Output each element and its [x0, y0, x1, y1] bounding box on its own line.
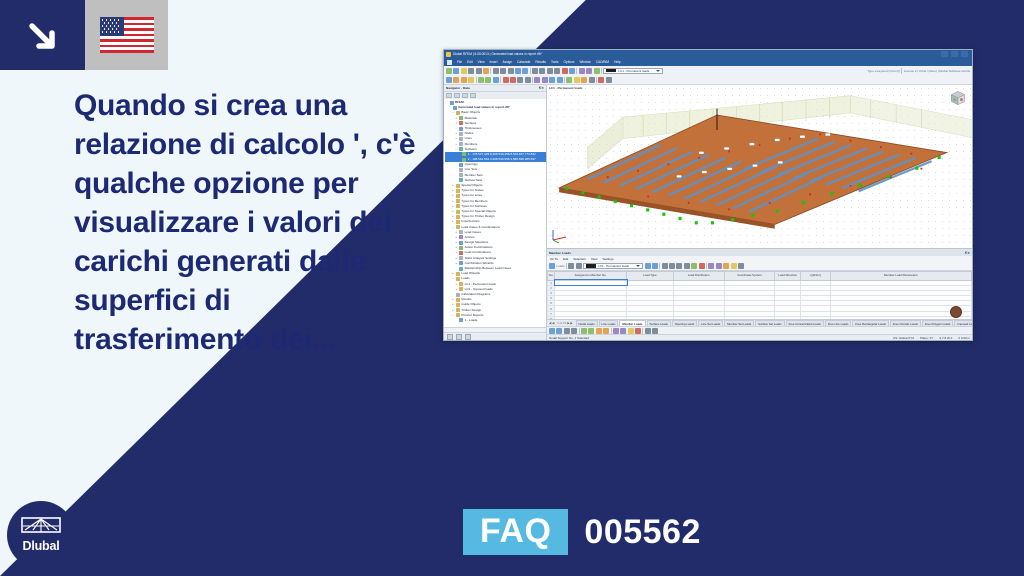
column-header-load-distribution: Load Distribution — [673, 271, 724, 280]
bottom-toolbar[interactable] — [547, 326, 972, 334]
tree-item-icon — [456, 189, 460, 193]
text-icon[interactable] — [542, 77, 548, 83]
table-print-icon[interactable] — [731, 263, 737, 269]
tree-item-icon — [456, 220, 460, 224]
mesh-icon[interactable] — [566, 77, 572, 83]
bt-rotate-icon[interactable] — [571, 328, 577, 334]
tree-expander-icon[interactable]: + — [455, 287, 458, 292]
render-icon[interactable] — [562, 68, 568, 74]
table-merge-icon[interactable] — [676, 263, 682, 269]
navigator-tabs[interactable] — [444, 92, 546, 99]
tree-item-icon — [450, 101, 454, 105]
panel-icon[interactable] — [539, 68, 545, 74]
bt-grid-icon[interactable] — [628, 328, 634, 334]
tree-item-icon — [459, 173, 463, 177]
tree-expander-icon[interactable]: + — [455, 261, 458, 266]
calculate-icon[interactable] — [579, 68, 585, 74]
faq-badge: FAQ — [463, 509, 568, 555]
cut-icon[interactable] — [493, 68, 499, 74]
menu-bar[interactable]: File Edit View Insert Assign Calculate R… — [444, 58, 972, 66]
tree-item-icon — [456, 184, 460, 188]
tree-item-icon — [459, 116, 463, 120]
solid-icon[interactable] — [485, 77, 491, 83]
table-icon[interactable] — [532, 68, 538, 74]
print-icon[interactable] — [468, 68, 474, 74]
column-header-load-type: Load Type — [627, 271, 674, 280]
loads-label: Loads — [556, 264, 564, 268]
tab-pager-label: 1 of 15 — [557, 321, 566, 325]
copy-icon[interactable] — [500, 68, 506, 74]
table-first-icon[interactable] — [568, 263, 574, 269]
column-header-assigned-members: Assigned to Member No. — [555, 271, 627, 280]
open-icon[interactable] — [453, 68, 459, 74]
navigator-header: Navigator - Data ⇱ ✕ — [444, 85, 546, 92]
tree-item-icon — [459, 178, 463, 182]
tree-item-icon — [456, 210, 460, 214]
paste-icon[interactable] — [508, 68, 514, 74]
model-viewport[interactable]: LC1 - Permanent loads — [547, 85, 972, 248]
tree-item-icon — [459, 163, 463, 167]
tree-item-icon — [456, 111, 460, 115]
navigator-tab-views[interactable] — [462, 93, 468, 98]
table-filter-icon[interactable] — [652, 263, 658, 269]
tree-item-icon — [456, 313, 460, 317]
tree-item-icon — [459, 132, 463, 136]
column-header-coordinate-system: Coordinate System — [724, 271, 775, 280]
navigator-collapse-icon[interactable] — [456, 334, 462, 340]
table-find-icon[interactable] — [716, 263, 722, 269]
loads-group-icon — [549, 263, 555, 269]
tree-item-icon — [459, 121, 463, 125]
opening-icon[interactable] — [493, 77, 499, 83]
tree-item-icon — [456, 293, 460, 297]
tree-expander-icon[interactable]: + — [455, 121, 458, 126]
chevron-down-icon[interactable] — [636, 265, 640, 267]
table-panel: Member Loads ⇱ ✕ On To Edit Selection Vi… — [547, 248, 972, 340]
table-insert-icon[interactable] — [691, 263, 697, 269]
status-left: Nodal Support No. 1 Standard — [549, 336, 589, 340]
navigator-expand-icon[interactable] — [447, 334, 453, 340]
tree-item-icon — [459, 261, 463, 265]
stress-icon[interactable] — [581, 77, 587, 83]
tab-nav-arrows-right[interactable]: ▶ ▶ — [567, 321, 572, 325]
table-delete-icon[interactable] — [699, 263, 705, 269]
tree-item-icon — [459, 127, 463, 131]
load-icon[interactable] — [517, 77, 523, 83]
menu-item-edit[interactable]: Edit — [467, 60, 473, 64]
table-column-icon[interactable] — [662, 263, 668, 269]
navigator-tab-display[interactable] — [454, 93, 460, 98]
table-menu-edit[interactable]: Edit — [563, 257, 568, 261]
toolbar-row-2[interactable] — [444, 75, 972, 84]
tree-item-label: 1 - Loads — [465, 318, 478, 323]
view-cube-icon[interactable] — [948, 88, 968, 108]
avatar — [950, 306, 962, 318]
tree-item-icon — [459, 318, 463, 322]
tree-item-icon — [456, 194, 460, 198]
node-icon[interactable] — [453, 77, 459, 83]
table-load-case-selector[interactable]: LC1 - Permanent loads — [583, 263, 643, 269]
table-panel-titlebar: Member Loads ⇱ ✕ — [547, 249, 972, 256]
layer-icon[interactable] — [549, 77, 555, 83]
tree-item-icon — [459, 287, 463, 291]
grid-icon[interactable] — [547, 68, 553, 74]
table-export-icon[interactable] — [723, 263, 729, 269]
member-icon[interactable] — [468, 77, 474, 83]
table-body: 123456789 — [548, 280, 972, 319]
menu-item-file[interactable]: File — [457, 60, 462, 64]
bt-display-icon[interactable] — [652, 328, 658, 334]
tree-item[interactable]: 1 - Loads — [445, 318, 546, 323]
tree-item-icon — [459, 168, 463, 172]
license-label: Licence 2 | Other (share) | Dlubal Softw… — [904, 69, 970, 73]
column-header-no: No. — [548, 271, 555, 280]
tree-item-icon — [456, 204, 460, 208]
menu-item-window[interactable]: Window — [579, 60, 590, 64]
table-close-icon[interactable]: ✕ — [967, 251, 970, 255]
dimension-icon[interactable] — [534, 77, 540, 83]
tree-item-icon — [459, 256, 463, 260]
headline-text: Quando si crea una relazione di calcolo … — [74, 86, 419, 359]
navigator-filter-icon[interactable] — [465, 334, 471, 340]
tree-item-icon — [456, 298, 460, 302]
tree-item-icon — [459, 251, 463, 255]
tree-item-icon — [453, 106, 457, 110]
faq-number: 005562 — [584, 513, 700, 552]
bt-snap-icon[interactable] — [613, 328, 619, 334]
tree-item-icon — [456, 225, 460, 229]
check-icon[interactable] — [594, 68, 600, 74]
navigator-title: Navigator - Data — [446, 86, 470, 90]
tree-item-icon — [459, 267, 463, 271]
bt-select-icon[interactable] — [549, 328, 555, 334]
menu-item-calculate[interactable]: Calculate — [517, 60, 530, 64]
status-plane: Plane: XY — [920, 336, 933, 340]
table-header-row: No. Assigned to Member No. Load Type Loa… — [548, 271, 972, 280]
minimize-button[interactable] — [941, 51, 948, 57]
bt-node-icon[interactable] — [581, 328, 587, 334]
print-preview-icon[interactable] — [476, 68, 482, 74]
tree-item-icon — [459, 147, 463, 151]
new-icon[interactable] — [446, 68, 452, 74]
load-case-selector[interactable]: LC1 - Permanent loads — [603, 68, 663, 74]
axis-gizmo-icon — [550, 228, 568, 244]
table-sort-icon[interactable] — [708, 263, 714, 269]
redo-icon[interactable] — [522, 68, 528, 74]
status-cs: CS: Global XYZ — [893, 336, 914, 340]
load-case-value: LC1 - Permanent loads — [618, 69, 654, 73]
app-icon — [446, 52, 451, 57]
navigator-panel: Navigator - Data ⇱ ✕ RFEM−Generated load… — [444, 85, 547, 340]
bt-member-icon[interactable] — [596, 328, 602, 334]
chevron-down-icon[interactable] — [656, 70, 660, 72]
loads-grid-wrapper[interactable]: No. Assigned to Member No. Load Type Loa… — [547, 271, 972, 320]
table-settings-icon[interactable] — [738, 263, 744, 269]
menu-item-tools[interactable]: Tools — [551, 60, 558, 64]
tree-item-icon — [456, 199, 460, 203]
dlubal-logo-text: Dlubal — [23, 539, 60, 553]
column-header-load-direction: Load Direction — [775, 271, 800, 280]
menu-item-insert[interactable]: Insert — [490, 60, 498, 64]
navigator-tab-data[interactable] — [446, 93, 452, 98]
truss-bridge-icon — [21, 517, 61, 537]
hinge-icon[interactable] — [510, 77, 516, 83]
dlubal-logo: Dlubal — [7, 501, 75, 569]
tree-item-icon — [456, 303, 460, 307]
maximize-button[interactable] — [951, 51, 958, 57]
nodal-load-icon[interactable] — [525, 77, 531, 83]
deformation-icon[interactable] — [574, 77, 580, 83]
results-icon[interactable] — [586, 68, 592, 74]
tree-item-icon — [459, 235, 463, 239]
snap-icon[interactable] — [554, 68, 560, 74]
flag-container — [85, 0, 168, 70]
usa-flag-icon — [100, 17, 154, 53]
faq-footer: FAQ 005562 — [463, 509, 701, 555]
select-icon[interactable] — [446, 77, 452, 83]
table-menu-view[interactable]: View — [591, 257, 598, 261]
tab-nav-arrows[interactable]: ◀ ◀ — [549, 321, 554, 325]
load-case-color-swatch — [606, 69, 616, 73]
table-split-icon[interactable] — [684, 263, 690, 269]
column-header-q: q [kN/m] — [800, 271, 830, 280]
rfem-application-window: Dlubal RFEM | 6.05.0013 | Generated load… — [443, 49, 973, 341]
table-title: Member Loads — [549, 251, 571, 255]
application-body: Navigator - Data ⇱ ✕ RFEM−Generated load… — [444, 85, 972, 340]
table-menu-onto[interactable]: On To — [550, 257, 558, 261]
status-coord: 0 0.00 m — [958, 336, 970, 340]
tree-item-icon — [459, 142, 463, 146]
table-toolbar[interactable]: Loads LC1 - Permanent loads — [547, 263, 972, 271]
navigator-tab-results[interactable] — [470, 93, 476, 98]
table-edit-icon[interactable] — [645, 263, 651, 269]
navigator-footer[interactable] — [444, 332, 546, 340]
section-icon[interactable] — [589, 77, 595, 83]
toolbar-row-1[interactable]: LC1 - Permanent loads Type a keyword (Ct… — [444, 66, 972, 75]
tree-item-icon — [456, 308, 460, 312]
table-row-icon[interactable] — [669, 263, 675, 269]
tree-item-icon — [459, 241, 463, 245]
surface-icon[interactable] — [478, 77, 484, 83]
bt-line-icon[interactable] — [588, 328, 594, 334]
window-titlebar: Dlubal RFEM | 6.05.0013 | Generated load… — [444, 50, 972, 58]
tree-item-icon — [459, 282, 463, 286]
bt-surface-icon[interactable] — [603, 328, 609, 334]
tree-expander-icon[interactable]: − — [451, 313, 454, 318]
tree-item-icon — [459, 230, 463, 234]
top-left-badge — [0, 0, 168, 70]
right-pane: LC1 - Permanent loads — [547, 85, 972, 340]
toolbars: LC1 - Permanent loads Type a keyword (Ct… — [444, 66, 972, 85]
loads-tab-strip[interactable]: ◀ ◀ 1 of 15 ▶ ▶ Nodal LoadsLine LoadsMem… — [547, 319, 972, 326]
undo-icon[interactable] — [515, 68, 521, 74]
export-icon[interactable] — [483, 68, 489, 74]
navigator-close-icon[interactable]: ✕ — [541, 86, 544, 90]
tree-item-icon — [459, 137, 463, 141]
bt-zoom-icon[interactable] — [564, 328, 570, 334]
zoom-icon[interactable] — [569, 68, 575, 74]
close-button[interactable] — [961, 51, 968, 57]
navigator-tree[interactable]: RFEM−Generated load values in report.rf6… — [444, 99, 546, 327]
save-icon[interactable] — [461, 68, 467, 74]
menu-item-assign[interactable]: Assign — [502, 60, 512, 64]
menu-grid-icon — [447, 60, 452, 65]
window-title: Dlubal RFEM | 6.05.0013 | Generated load… — [453, 52, 542, 56]
tree-expander-icon[interactable]: − — [455, 147, 458, 152]
delete-icon[interactable] — [598, 77, 604, 83]
menu-item-help[interactable]: Help — [614, 60, 621, 64]
tree-item-icon — [456, 272, 460, 276]
bt-pan-icon[interactable] — [556, 328, 562, 334]
tree-item-icon — [456, 215, 460, 219]
table-load-case-value: LC1 - Permanent loads — [598, 264, 634, 268]
menu-item-results[interactable]: Results — [535, 60, 546, 64]
settings-icon[interactable] — [606, 77, 612, 83]
table-menu-settings[interactable]: Settings — [602, 257, 613, 261]
structural-model-3d — [547, 85, 972, 248]
support-icon[interactable] — [503, 77, 509, 83]
table-prev-icon[interactable] — [576, 263, 582, 269]
menu-item-view[interactable]: View — [478, 60, 485, 64]
tree-item-icon — [462, 158, 466, 162]
tree-item-icon — [462, 152, 466, 156]
status-bar: Nodal Support No. 1 Standard CS: Global … — [547, 334, 972, 340]
column-header-member-load-parameters: Member Load Parameters — [830, 271, 971, 280]
search-input[interactable]: Type a keyword (Ctrl+Q) — [867, 69, 900, 73]
visibility-icon[interactable] — [557, 77, 563, 83]
status-misc: 0.7.8 W d — [939, 336, 952, 340]
menu-item-cadbim[interactable]: CAD/BIM — [596, 60, 609, 64]
member-loads-table: No. Assigned to Member No. Load Type Loa… — [547, 271, 972, 320]
tree-item-icon — [456, 277, 460, 281]
line-icon[interactable] — [461, 77, 467, 83]
table-load-case-swatch — [586, 264, 596, 268]
bt-ortho-icon[interactable] — [620, 328, 626, 334]
bt-object-snap-icon[interactable] — [635, 328, 641, 334]
menu-item-options[interactable]: Options — [563, 60, 574, 64]
arrow-down-right-icon — [0, 0, 85, 70]
tree-item-icon — [459, 246, 463, 250]
table-menu-selection[interactable]: Selection — [573, 257, 586, 261]
bt-layer-icon[interactable] — [645, 328, 651, 334]
